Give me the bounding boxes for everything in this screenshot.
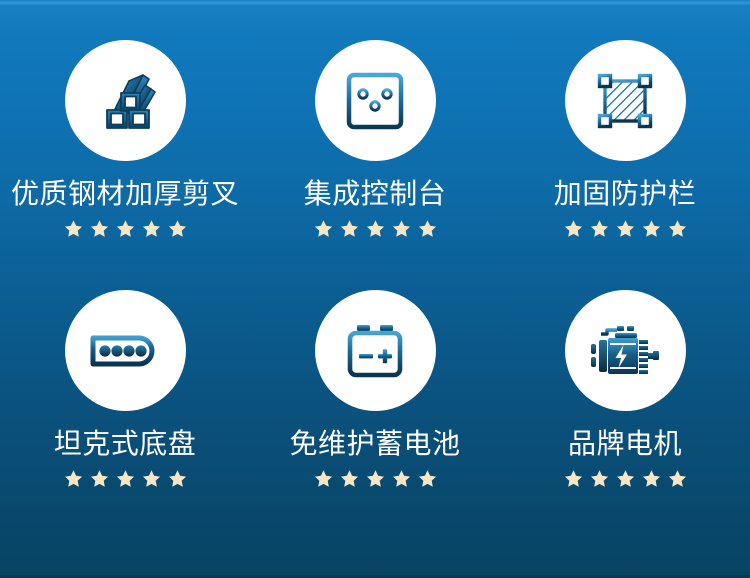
- rating-stars-5: [314, 468, 437, 488]
- star-icon: [314, 219, 333, 238]
- star-icon: [392, 469, 411, 488]
- star-icon: [90, 469, 109, 488]
- rating-stars-1: [64, 218, 187, 238]
- rating-stars-4: [64, 468, 187, 488]
- star-icon: [590, 219, 609, 238]
- feature-label-3: 加固防护栏: [554, 177, 697, 211]
- top-highlight-strip: [0, 0, 750, 6]
- icon-circle-2: [315, 40, 436, 161]
- star-icon: [366, 469, 385, 488]
- feature-cell-4[interactable]: 坦克式底盘: [0, 290, 250, 540]
- star-icon: [64, 469, 83, 488]
- star-icon: [418, 469, 437, 488]
- star-icon: [90, 219, 109, 238]
- icon-circle-5: [315, 290, 436, 411]
- control-panel-sliders-icon: [344, 70, 406, 132]
- feature-grid: 优质钢材加厚剪叉: [0, 40, 750, 540]
- star-icon: [340, 469, 359, 488]
- battery-icon: [344, 322, 406, 380]
- feature-label-5: 免维护蓄电池: [289, 427, 460, 461]
- star-icon: [168, 219, 187, 238]
- feature-label-2: 集成控制台: [304, 177, 447, 211]
- feature-banner: 优质钢材加厚剪叉: [0, 0, 750, 578]
- star-icon: [564, 219, 583, 238]
- star-icon: [642, 219, 661, 238]
- star-icon: [616, 469, 635, 488]
- star-icon: [168, 469, 187, 488]
- star-icon: [392, 219, 411, 238]
- reinforced-guardrail-icon: [594, 70, 656, 132]
- tank-track-chassis-icon: [90, 325, 160, 377]
- feature-cell-1[interactable]: 优质钢材加厚剪叉: [0, 40, 250, 290]
- icon-circle-1: [65, 40, 186, 161]
- feature-label-6: 品牌电机: [568, 427, 682, 461]
- rating-stars-3: [564, 218, 687, 238]
- feature-cell-3[interactable]: 加固防护栏: [500, 40, 750, 290]
- feature-label-1: 优质钢材加厚剪叉: [11, 177, 239, 211]
- star-icon: [116, 469, 135, 488]
- star-icon: [142, 219, 161, 238]
- star-icon: [314, 469, 333, 488]
- star-icon: [668, 469, 687, 488]
- star-icon: [142, 469, 161, 488]
- feature-label-4: 坦克式底盘: [54, 427, 197, 461]
- star-icon: [64, 219, 83, 238]
- feature-cell-5[interactable]: 免维护蓄电池: [250, 290, 500, 540]
- feature-cell-6[interactable]: 品牌电机: [500, 290, 750, 540]
- icon-circle-3: [565, 40, 686, 161]
- rating-stars-6: [564, 468, 687, 488]
- star-icon: [642, 469, 661, 488]
- icon-circle-4: [65, 290, 186, 411]
- electric-motor-icon: [587, 320, 663, 382]
- star-icon: [590, 469, 609, 488]
- star-icon: [564, 469, 583, 488]
- star-icon: [366, 219, 385, 238]
- steel-beams-icon: [89, 65, 161, 137]
- feature-cell-2[interactable]: 集成控制台: [250, 40, 500, 290]
- icon-circle-6: [565, 290, 686, 411]
- star-icon: [418, 219, 437, 238]
- star-icon: [616, 219, 635, 238]
- star-icon: [340, 219, 359, 238]
- rating-stars-2: [314, 218, 437, 238]
- star-icon: [116, 219, 135, 238]
- star-icon: [668, 219, 687, 238]
